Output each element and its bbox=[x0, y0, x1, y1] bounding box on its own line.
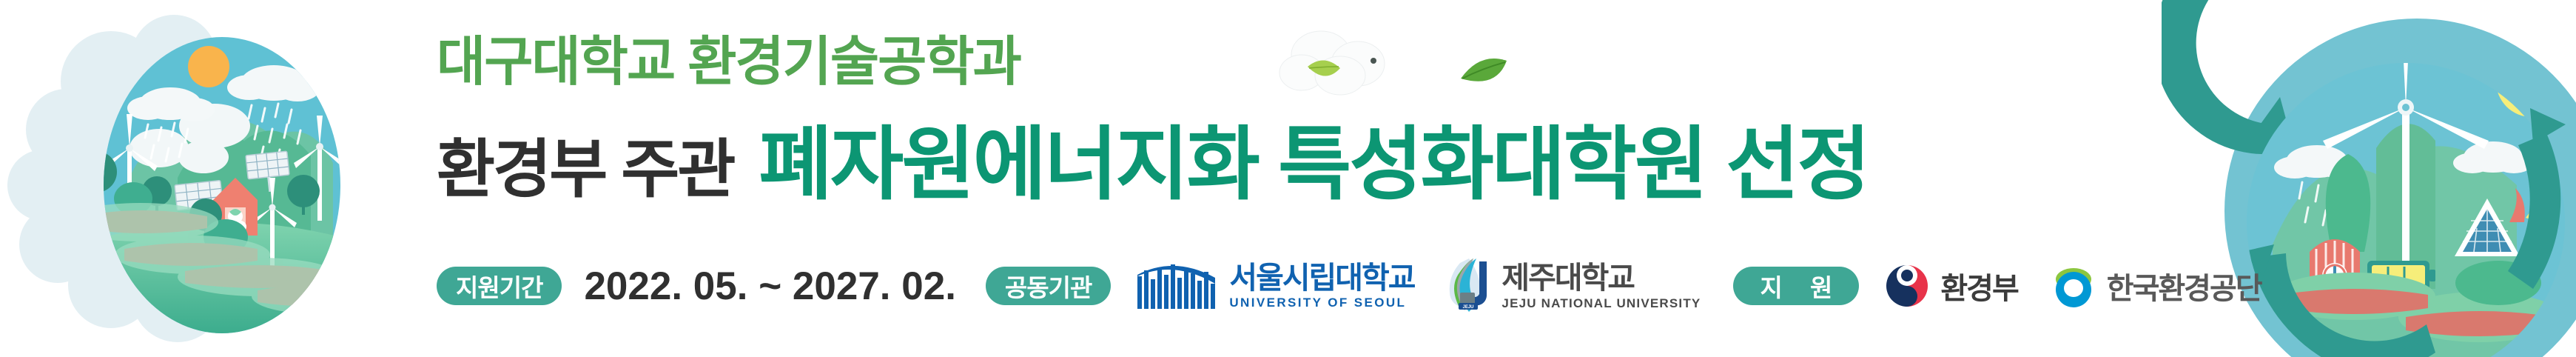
eco-city-illustration bbox=[0, 0, 385, 357]
logo-jeju-national-university: JEJU 제주대학교 JEJU NATIONAL UNIVERSITY bbox=[1447, 257, 1701, 315]
jeju-national-university-name-ko: 제주대학교 bbox=[1501, 263, 1701, 293]
leaf-icon bbox=[1458, 53, 1511, 90]
korea-environment-corporation-name: 한국환경공단 bbox=[2107, 264, 2261, 307]
logo-ministry-of-environment: 환경부 bbox=[1884, 263, 2017, 309]
program-banner: 대구대학교 환경기술공학과 환경부 주관 bbox=[0, 0, 2576, 357]
sun-icon bbox=[188, 46, 229, 87]
support-period-value: 2022. 05. ~ 2027. 02. bbox=[584, 264, 955, 309]
page-subtitle: 대구대학교 환경기술공학과 bbox=[437, 36, 1020, 89]
cloud-icon bbox=[1269, 21, 1417, 99]
jeju-national-university-name-en: JEJU NATIONAL UNIVERSITY bbox=[1501, 297, 1701, 310]
logo-korea-environment-corporation: 한국환경공단 bbox=[2051, 263, 2261, 309]
support-period-badge: 지원기간 bbox=[437, 267, 562, 305]
page-title-lead: 환경부 주관 bbox=[437, 138, 759, 201]
taegeuk-icon bbox=[1884, 263, 1930, 309]
jeju-national-university-mark-icon: JEJU bbox=[1447, 257, 1493, 315]
support-badge: 지 원 bbox=[1733, 267, 1859, 305]
ministry-of-environment-name: 환경부 bbox=[1940, 264, 2017, 307]
keco-ring-icon bbox=[2051, 263, 2096, 309]
page-title: 환경부 주관 폐자원에너지화 특성화대학원 선정 bbox=[437, 124, 1869, 204]
university-of-seoul-name-en: UNIVERSITY OF SEOUL bbox=[1229, 296, 1414, 309]
partner-institutions-badge: 공동기관 bbox=[986, 267, 1111, 305]
page-title-main: 폐자원에너지화 특성화대학원 선정 bbox=[759, 124, 1869, 204]
university-of-seoul-mark-icon bbox=[1136, 263, 1220, 309]
info-row: 지원기간 2022. 05. ~ 2027. 02. 공동기관 bbox=[437, 252, 2261, 320]
university-of-seoul-name-ko: 서울시립대학교 bbox=[1229, 263, 1414, 293]
logo-university-of-seoul: 서울시립대학교 UNIVERSITY OF SEOUL bbox=[1136, 263, 1414, 309]
svg-text:JEJU: JEJU bbox=[1463, 305, 1474, 310]
